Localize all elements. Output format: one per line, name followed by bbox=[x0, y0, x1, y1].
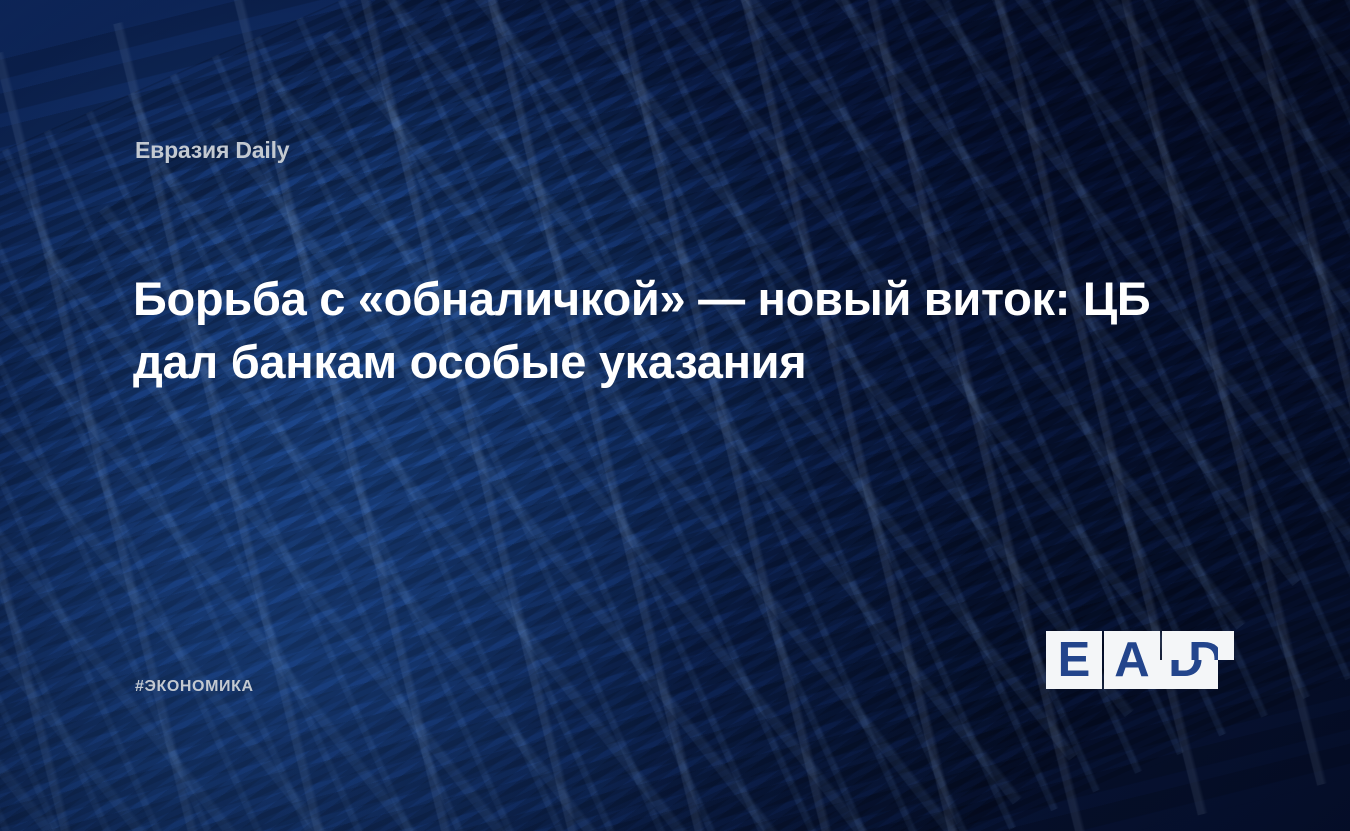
logo-letter-e: E bbox=[1046, 631, 1102, 689]
logo-letter-d-upper: D bbox=[1178, 631, 1218, 660]
article-share-card: Евразия Daily Борьба с «обналичкой» — но… bbox=[0, 0, 1350, 831]
article-headline: Борьба с «обналичкой» — новый виток: ЦБ … bbox=[133, 268, 1213, 393]
card-content: Евразия Daily Борьба с «обналичкой» — но… bbox=[0, 0, 1350, 831]
logo-tile-a: A bbox=[1104, 631, 1160, 689]
logo-tile-e: E bbox=[1046, 631, 1102, 689]
logo-letter-d-lower: D bbox=[1162, 660, 1214, 689]
logo-d-half-bottom: D bbox=[1162, 660, 1218, 689]
category-tag[interactable]: #ЭКОНОМИКА bbox=[135, 678, 254, 696]
ead-logo: E A D D bbox=[1046, 631, 1220, 689]
logo-d-half-top: D bbox=[1162, 631, 1218, 660]
logo-letter-a: A bbox=[1104, 631, 1160, 689]
logo-letter-d-split: D D bbox=[1162, 631, 1218, 689]
site-name: Евразия Daily bbox=[135, 137, 289, 164]
